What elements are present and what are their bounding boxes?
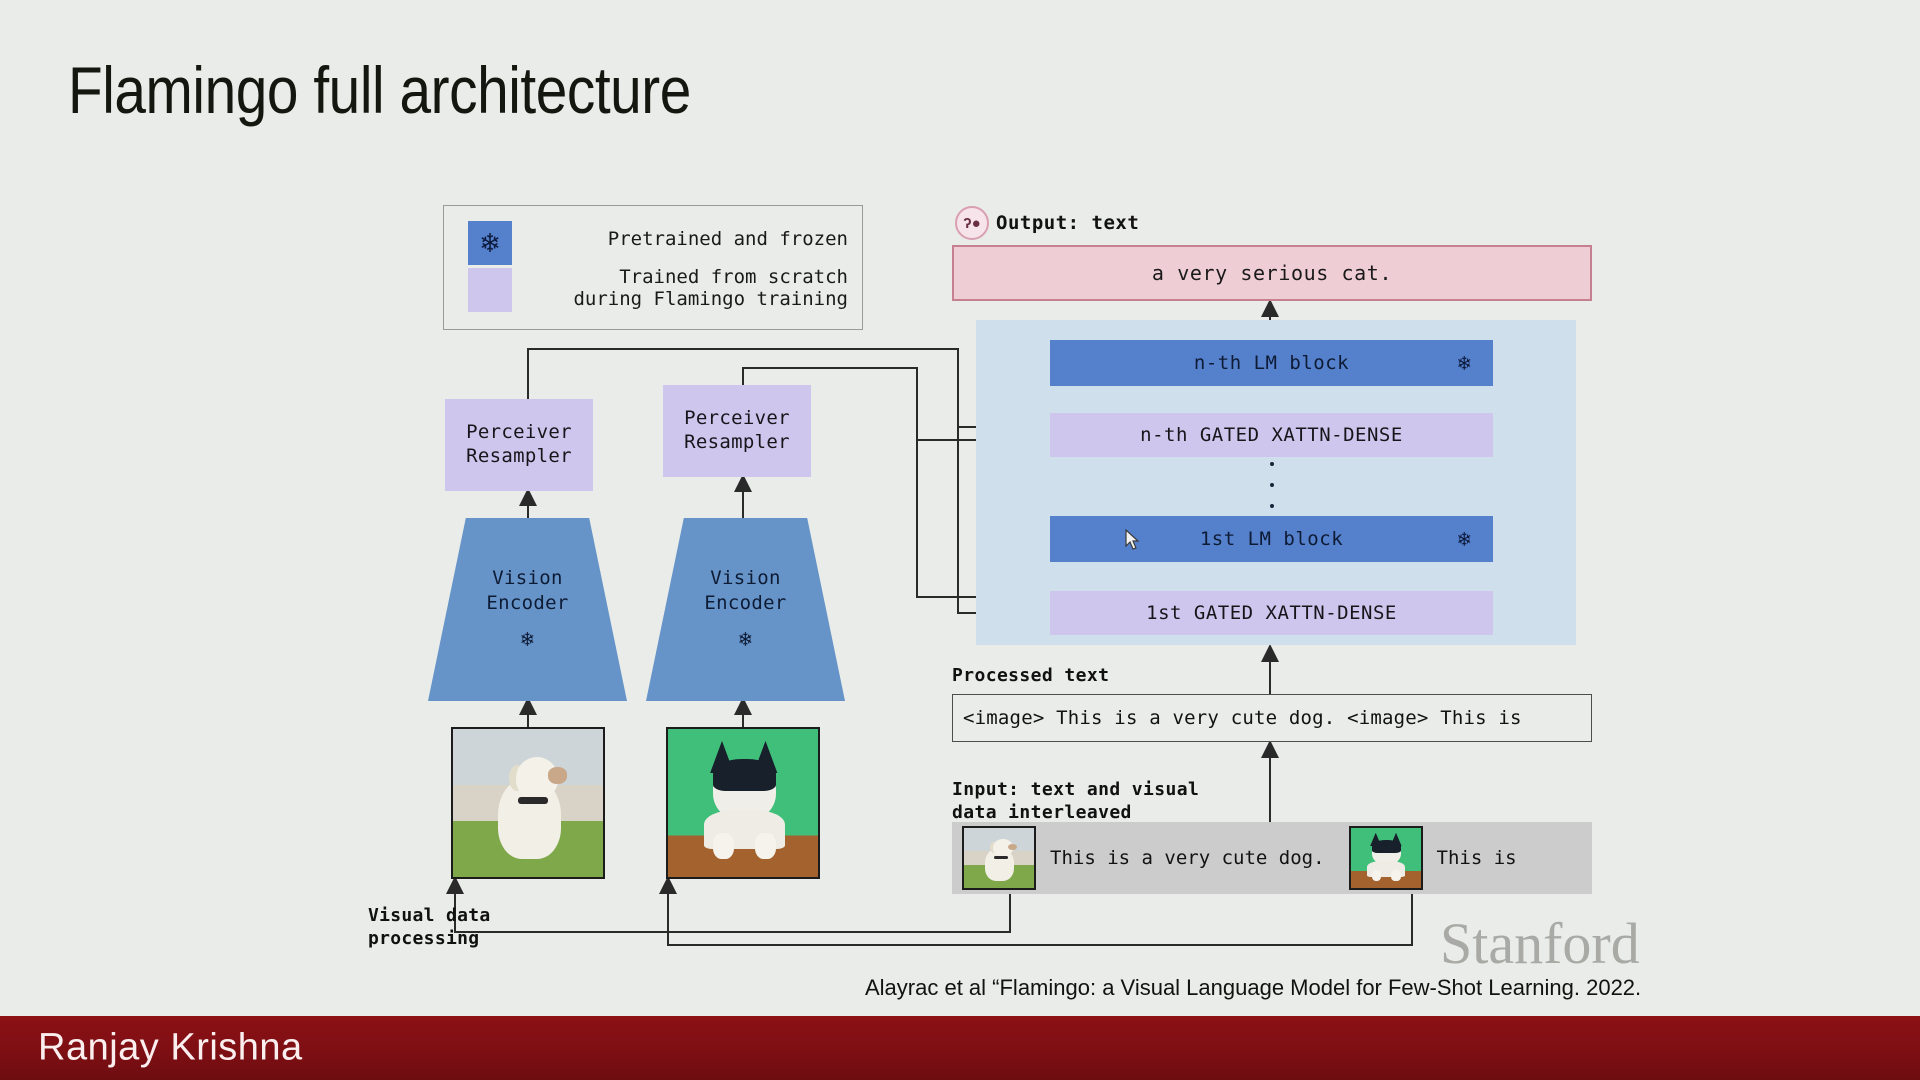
- input-text-1: This is a very cute dog.: [1050, 847, 1325, 869]
- vertical-ellipsis: [1270, 462, 1274, 508]
- perceiver-resampler-2: Perceiver Resampler: [663, 385, 811, 477]
- input-text-2: This is: [1437, 847, 1517, 869]
- dog-photo: [451, 727, 605, 879]
- processed-text-box: <image> This is a very cute dog. <image>…: [952, 694, 1592, 742]
- flamingo-logo-icon: ʔ●: [955, 206, 989, 240]
- snowflake-icon: ❄: [739, 626, 752, 653]
- gated-xattn-dense-1: 1st GATED XATTN-DENSE: [1050, 591, 1493, 635]
- input-label: Input: text and visual data interleaved: [952, 778, 1199, 825]
- visual-data-processing-label: Visual data processing: [368, 905, 491, 950]
- legend-frozen-swatch: ❄: [468, 221, 512, 265]
- cat-thumbnail: [1349, 826, 1423, 890]
- vision-encoder-1: Vision Encoder ❄: [428, 518, 627, 701]
- processed-text-label: Processed text: [952, 665, 1109, 686]
- citation-text: Alayrac et al “Flamingo: a Visual Langua…: [865, 975, 1641, 1001]
- output-label-group: ʔ● Output: text: [955, 206, 1139, 240]
- lm-block-1-label: 1st LM block: [1200, 528, 1343, 550]
- lm-block-n-label: n-th LM block: [1194, 352, 1349, 374]
- legend-trained-label: Trained from scratch during Flamingo tra…: [573, 266, 848, 311]
- snowflake-icon: ❄: [479, 230, 501, 256]
- vision-encoder-2: Vision Encoder ❄: [646, 518, 845, 701]
- legend-frozen-label: Pretrained and frozen: [608, 228, 848, 250]
- dog-thumbnail: [962, 826, 1036, 890]
- legend-box: ❄ Pretrained and frozen Trained from scr…: [443, 205, 863, 330]
- snowflake-icon: ❄: [1458, 351, 1471, 375]
- snowflake-icon: ❄: [521, 626, 534, 653]
- mouse-pointer-icon: [1125, 529, 1141, 551]
- legend-trained-swatch: [468, 268, 512, 312]
- snowflake-icon: ❄: [1458, 527, 1471, 551]
- output-text-box: a very serious cat.: [952, 245, 1592, 301]
- gated-xattn-dense-n: n-th GATED XATTN-DENSE: [1050, 413, 1493, 457]
- perceiver-resampler-1: Perceiver Resampler: [445, 399, 593, 491]
- lm-block-n: n-th LM block ❄: [1050, 340, 1493, 386]
- output-label: Output: text: [996, 212, 1139, 234]
- stanford-logo: Stanford: [1440, 910, 1640, 977]
- lm-block-1: 1st LM block ❄: [1050, 516, 1493, 562]
- input-strip: This is a very cute dog. This is: [952, 822, 1592, 894]
- cat-photo: [666, 727, 820, 879]
- footer-bar: Ranjay Krishna: [0, 1016, 1920, 1080]
- page-title: Flamingo full architecture: [68, 52, 691, 128]
- presenter-name: Ranjay Krishna: [38, 1027, 303, 1070]
